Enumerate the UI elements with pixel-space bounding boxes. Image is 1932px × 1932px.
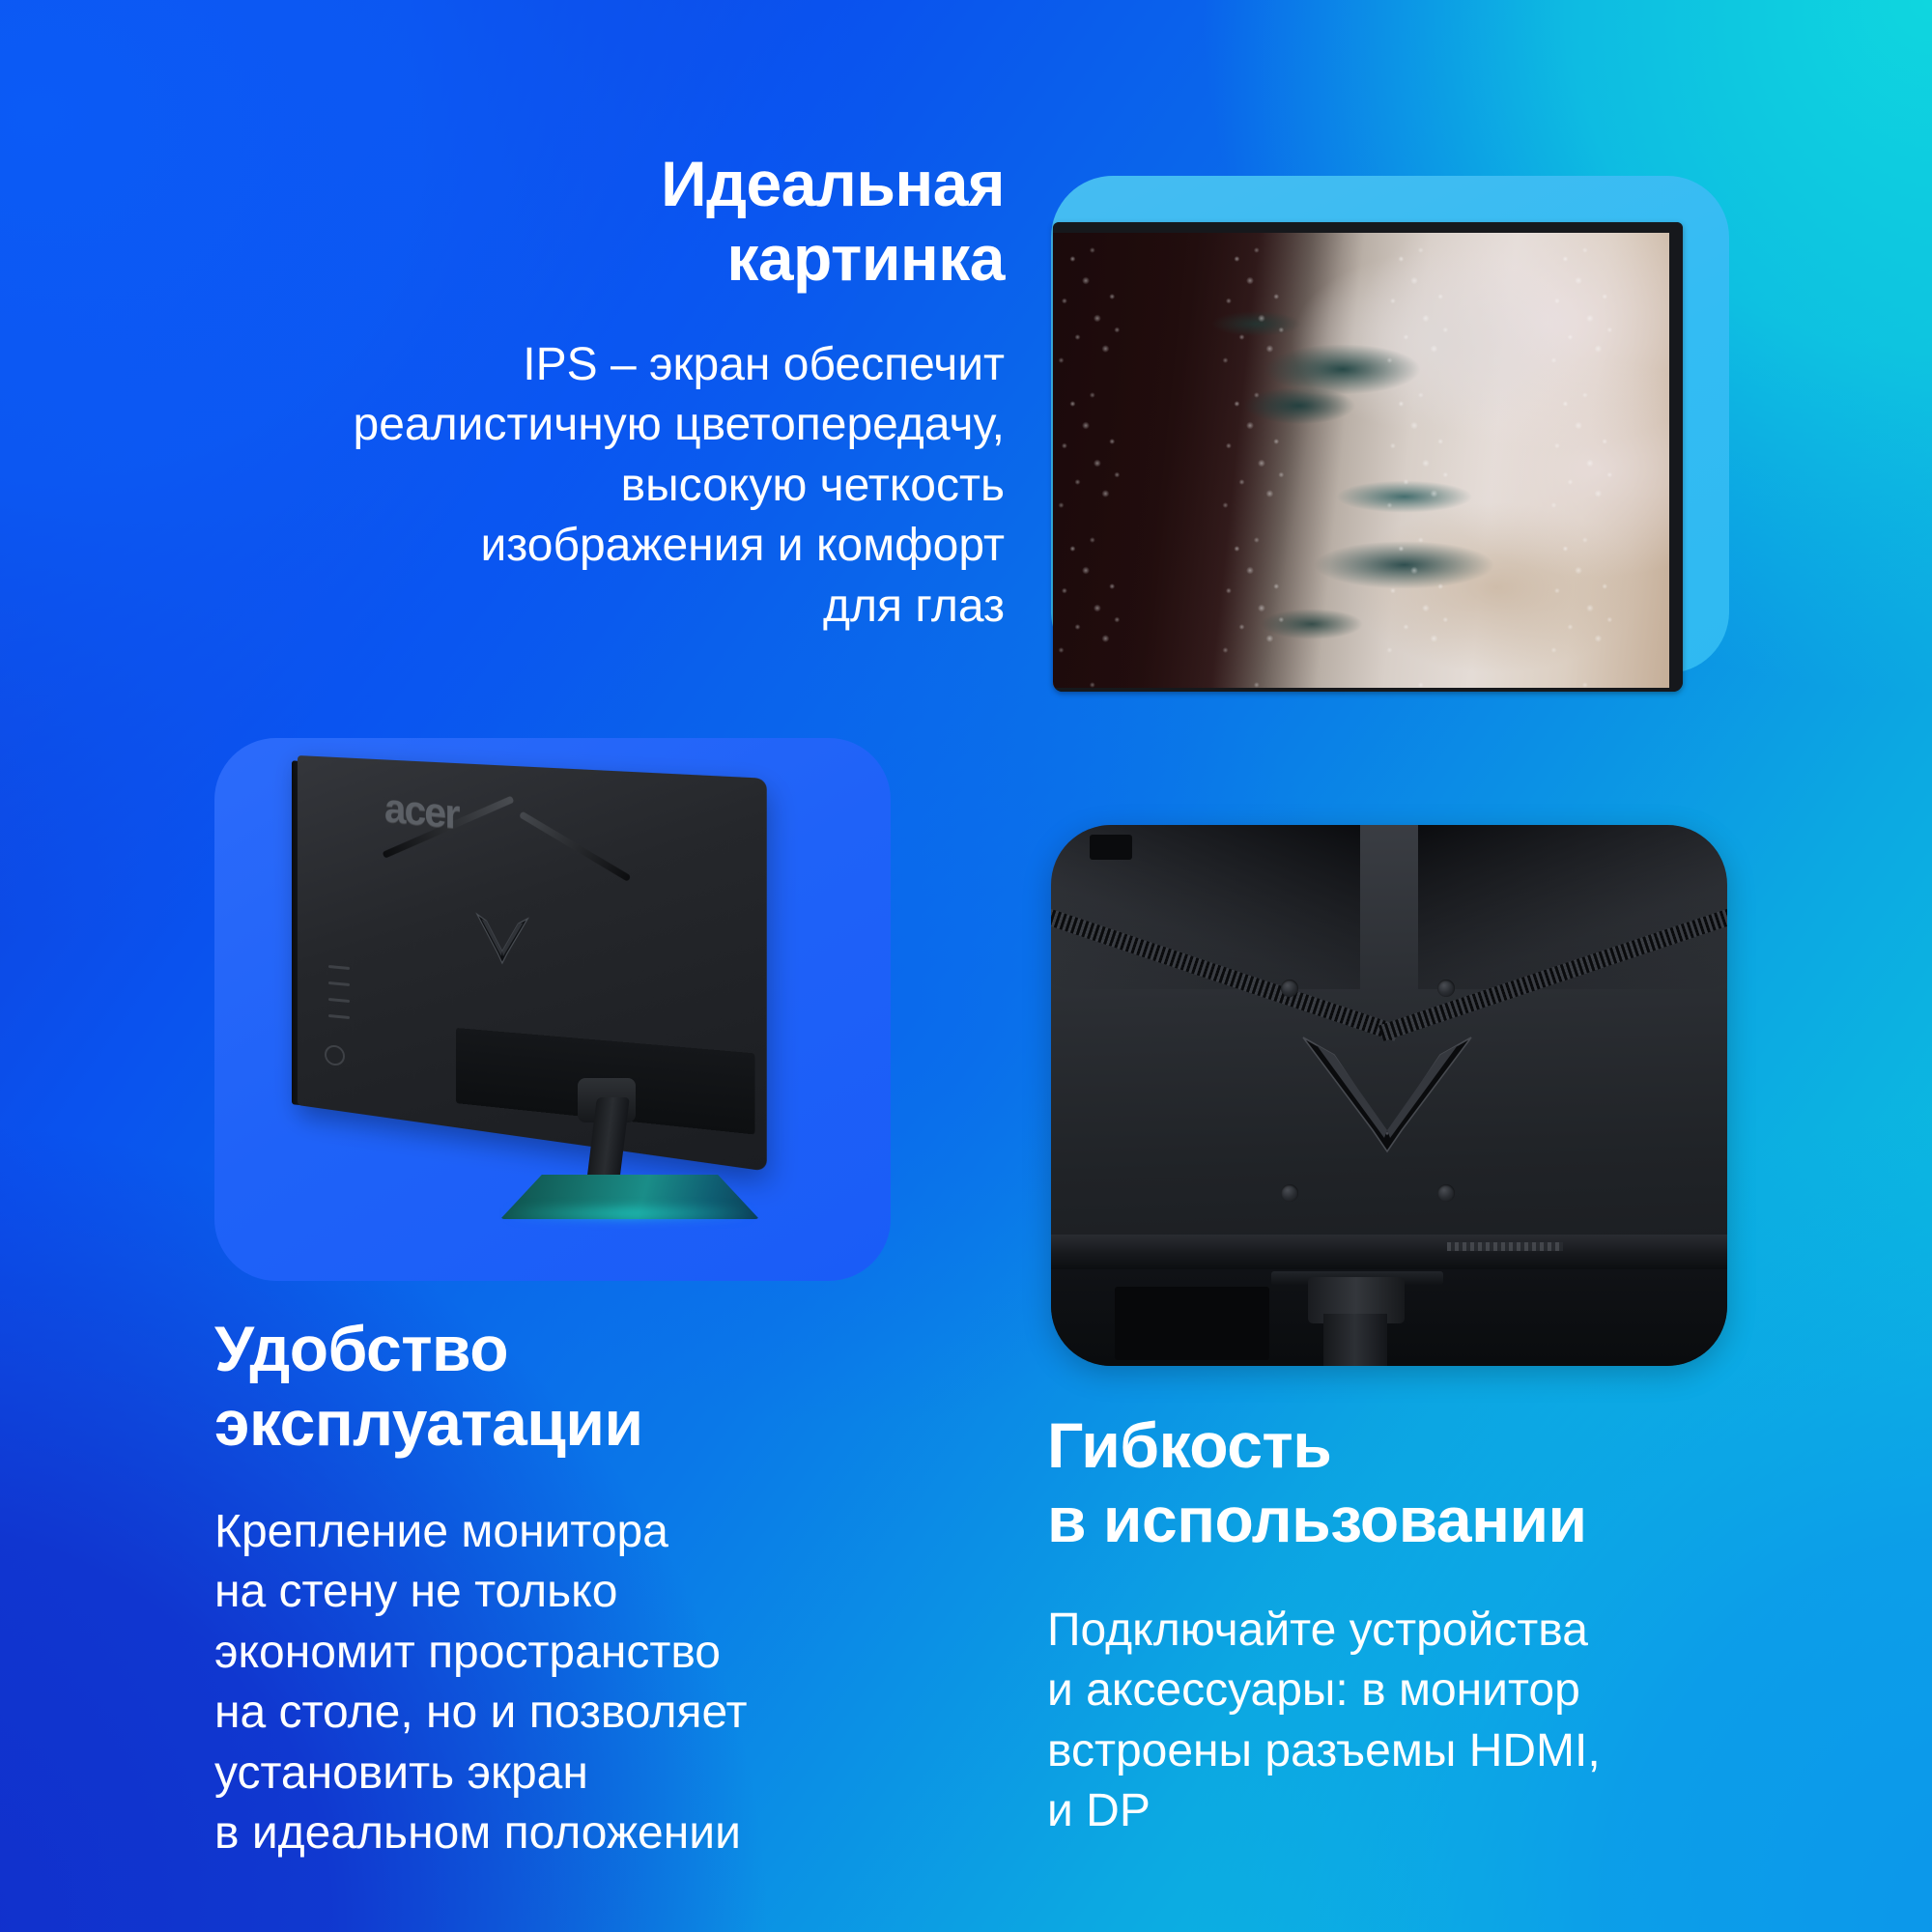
nitro-v-emblem-icon: [473, 908, 531, 974]
nitro-v-emblem-icon: [1295, 1030, 1479, 1155]
heading-usability: Удобство эксплуатации: [214, 1312, 949, 1460]
acer-monitor-rear-image: acer: [214, 738, 891, 1281]
monitor-osd-buttons: [328, 965, 350, 1033]
body-flexibility: Подключайте устройства и аксессуары: в м…: [1047, 1601, 1781, 1842]
card-panel-flexibility: [1051, 825, 1727, 1366]
infographic-poster: acer: [0, 0, 1932, 1932]
closeup-top-notch: [1090, 835, 1132, 860]
acer-brand-logo: acer: [384, 784, 458, 838]
monitor-screen-wallpaper: [1053, 233, 1669, 688]
heading-flexibility: Гибкость в использовании: [1047, 1408, 1781, 1556]
closeup-stand-stem: [1323, 1314, 1387, 1366]
card-panel-usability: acer: [214, 738, 891, 1281]
vesa-screw-hole: [1281, 980, 1298, 997]
text-block-usability: Удобство эксплуатации Крепление монитора…: [214, 1312, 949, 1863]
closeup-spec-label: [1447, 1242, 1563, 1251]
text-block-flexibility: Гибкость в использовании Подключайте уст…: [1047, 1408, 1781, 1842]
monitor-front-image: [1053, 222, 1683, 692]
heading-perfect-picture: Идеальная картинка: [232, 147, 1005, 295]
body-usability: Крепление монитора на стену не только эк…: [214, 1502, 949, 1863]
text-block-perfect-picture: Идеальная картинка IPS – экран обеспечит…: [232, 147, 1005, 637]
body-perfect-picture: IPS – экран обеспечит реалистичную цвето…: [232, 335, 1005, 637]
monitor-stand-base-glow: [504, 1207, 753, 1219]
vesa-screw-hole: [1281, 1184, 1298, 1202]
vesa-screw-hole: [1437, 980, 1455, 997]
aerial-speckle-layer: [1053, 233, 1669, 688]
closeup-bottom-ledge: [1051, 1235, 1727, 1269]
vesa-screw-hole: [1437, 1184, 1455, 1202]
closeup-port-recess: [1115, 1287, 1269, 1360]
